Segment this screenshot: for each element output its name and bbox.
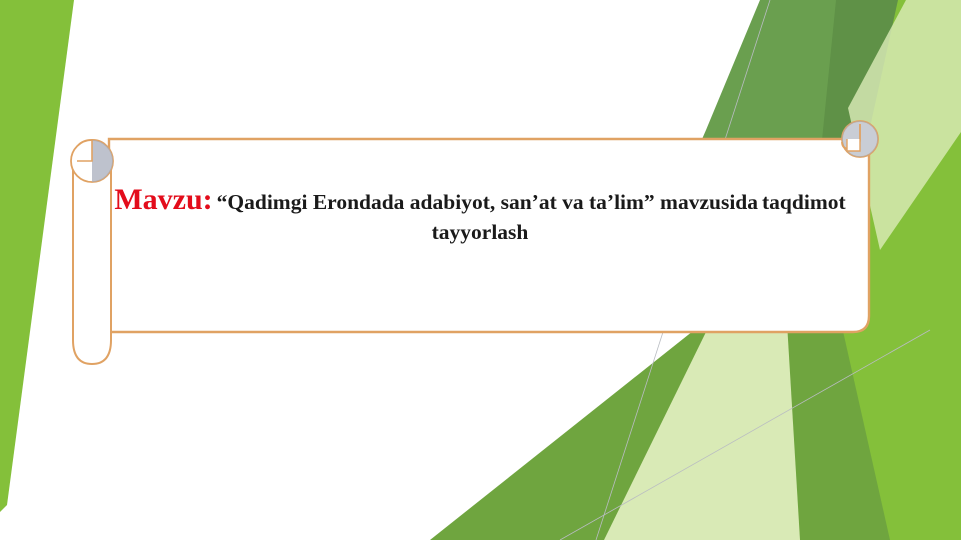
title-lead-mavzu: Mavzu: xyxy=(114,183,212,216)
title-main-line1: “Qadimgi Erondada adabiyot, san’at va ta… xyxy=(217,190,758,214)
title-block: Mavzu: “Qadimgi Erondada adabiyot, san’a… xyxy=(111,180,849,247)
title-scroll-banner: Mavzu: “Qadimgi Erondada adabiyot, san’a… xyxy=(63,118,883,368)
title-text-layer: Mavzu: “Qadimgi Erondada adabiyot, san’a… xyxy=(111,180,849,310)
right-curl-notch xyxy=(847,139,860,151)
slide-canvas: Mavzu: “Qadimgi Erondada adabiyot, san’a… xyxy=(0,0,961,540)
